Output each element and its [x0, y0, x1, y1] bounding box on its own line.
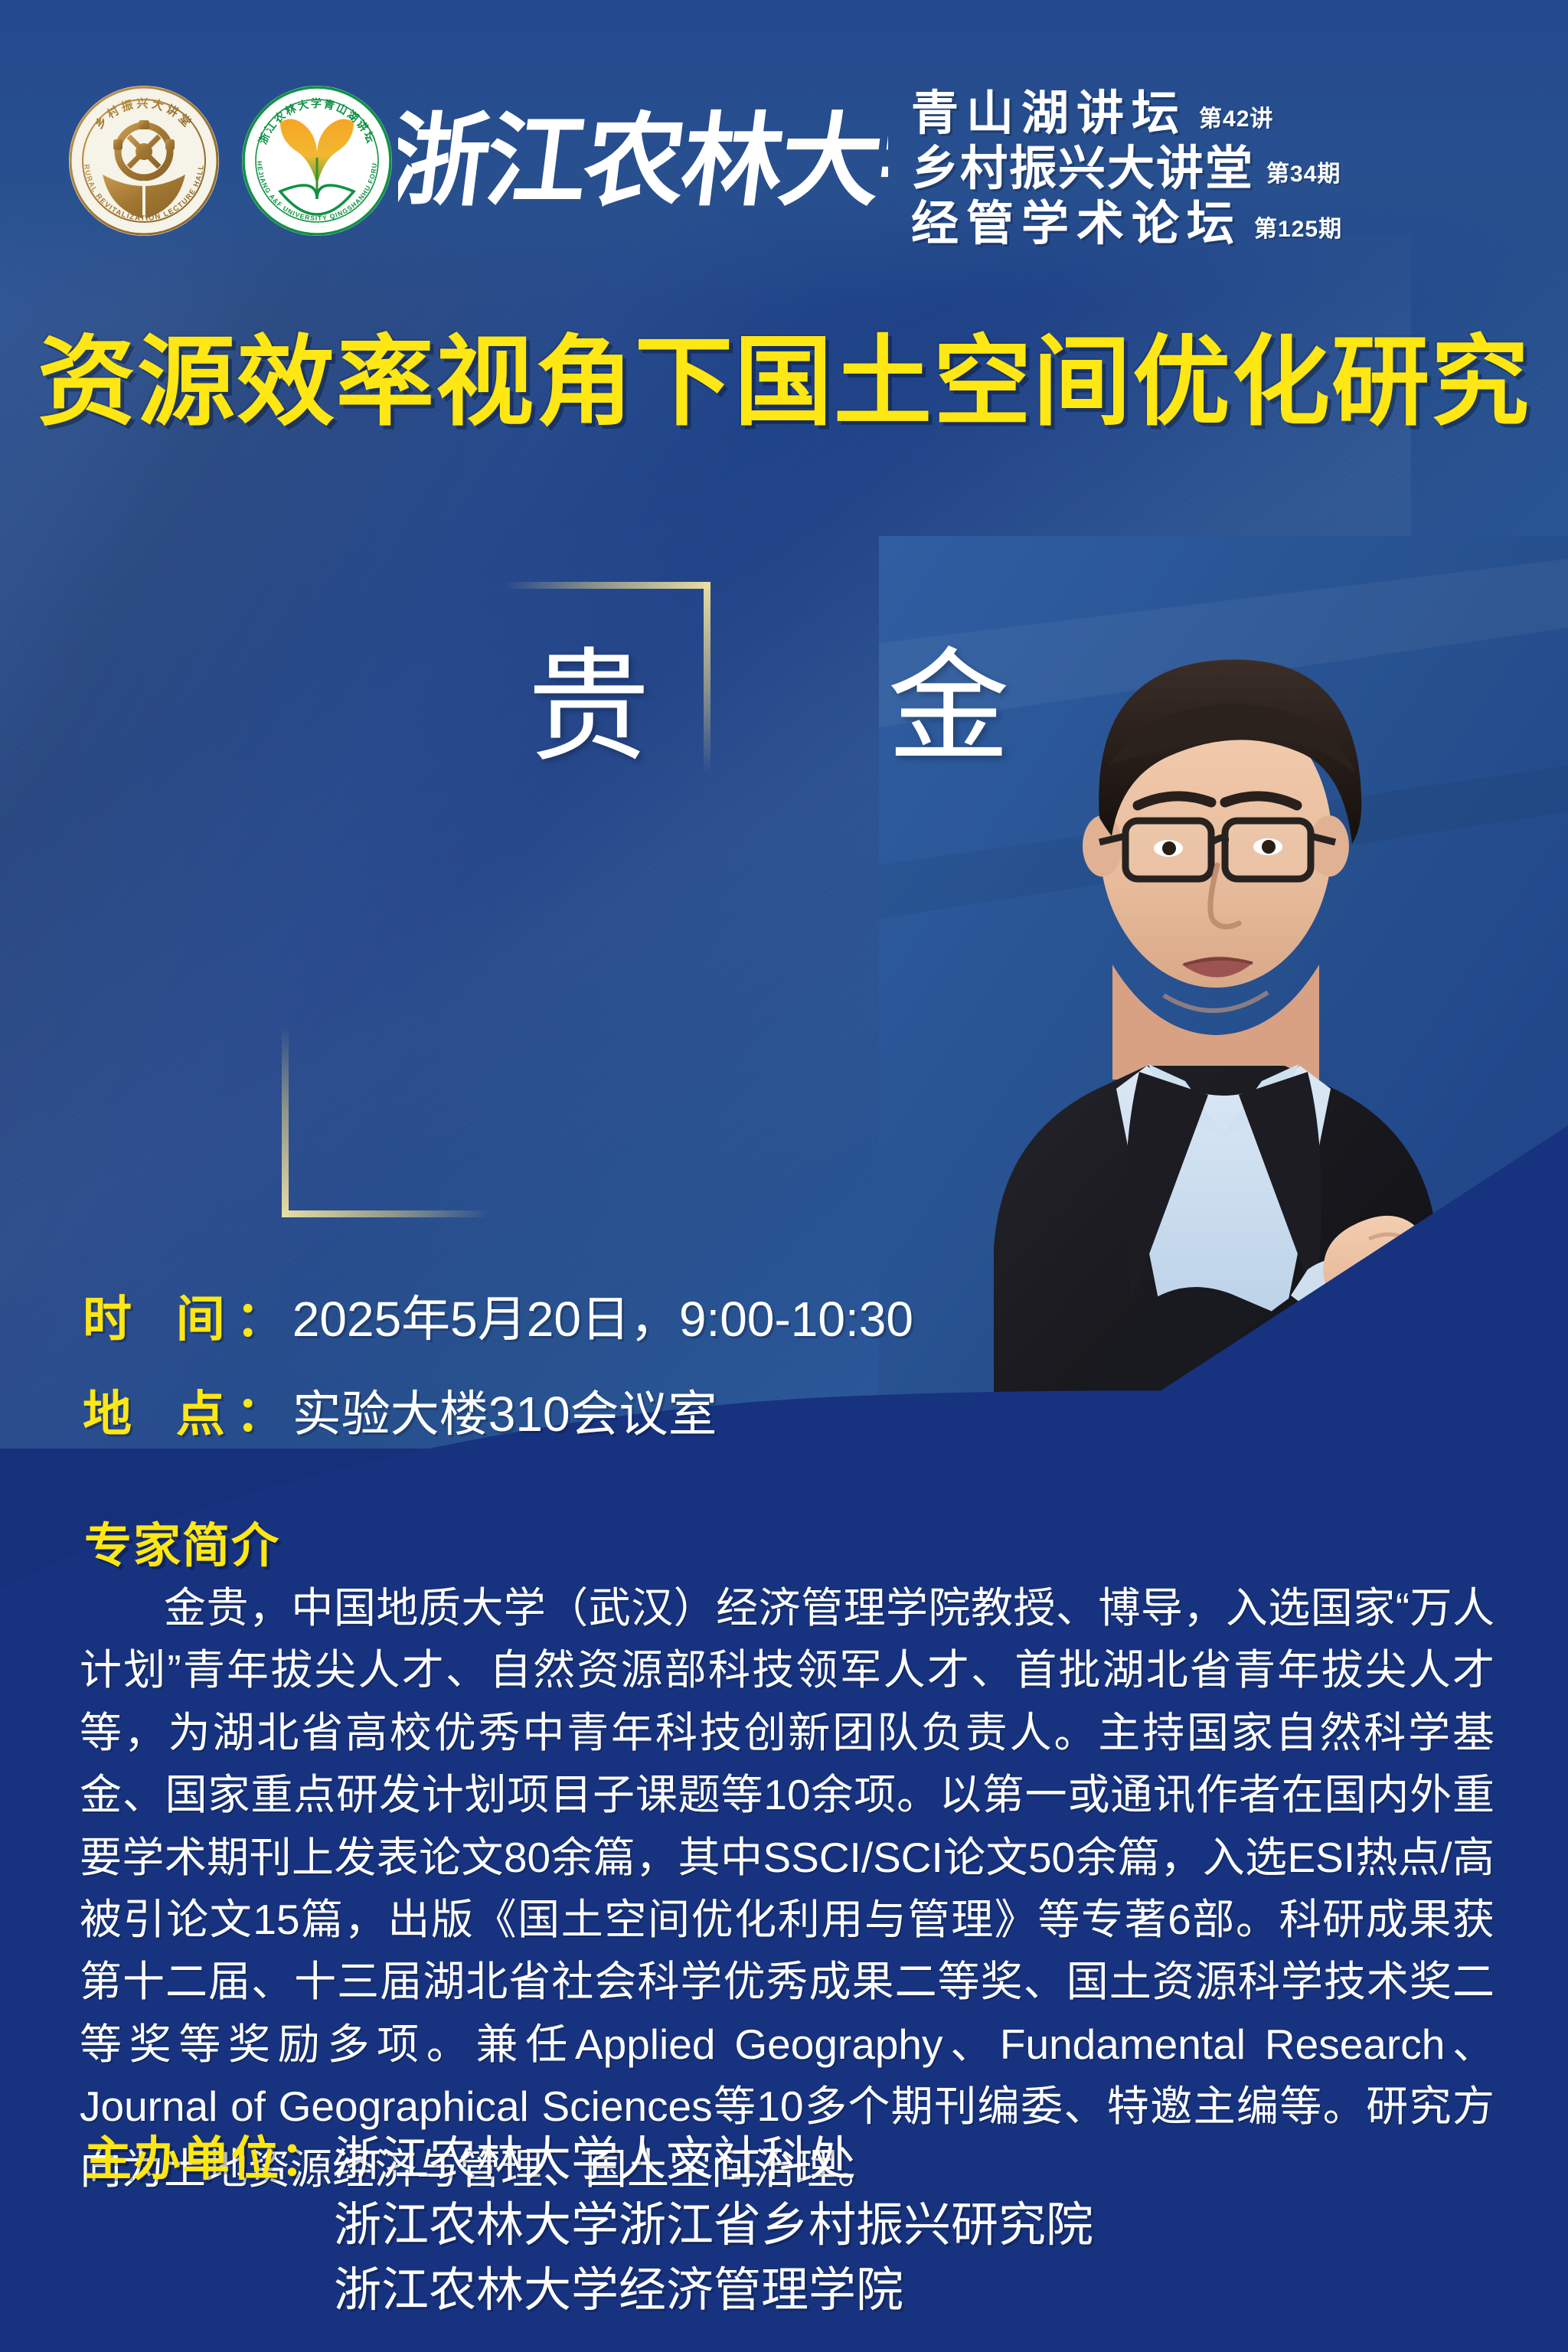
- series-number-econ-management-forum: 第125期: [1254, 210, 1342, 248]
- event-place-value: 实验大楼310会议室: [292, 1375, 717, 1445]
- logo-group: 乡村振兴大讲堂 RURAL REVITALIZATION LECTURE HAL…: [67, 84, 394, 237]
- lecture-title: 资源效率视角下国土空间优化研究: [0, 325, 1568, 440]
- event-time-row: 时 间 ： 2025年5月20日，9:00-10:30: [83, 1280, 913, 1351]
- place-colon-icon: ：: [236, 1375, 285, 1445]
- expert-bio-heading: 专家简介: [84, 1507, 280, 1576]
- event-time-label: 时 间: [83, 1280, 240, 1351]
- svg-text:浙江农林大学: 浙江农林大学: [398, 106, 888, 217]
- organizers-list: 浙江农林大学人文社科处 浙江农林大学浙江省乡村振兴研究院 浙江农林大学经济管理学…: [334, 2127, 1093, 2324]
- expert-bio-text: 金贵，中国地质大学（武汉）经济管理学院教授、博导，入选国家“万人计划”青年拔尖人…: [80, 1577, 1494, 2200]
- event-place-row: 地 点 ： 实验大楼310会议室: [83, 1375, 913, 1445]
- series-row: 乡村振兴大讲堂 第34期: [911, 145, 1342, 193]
- event-time-value: 2025年5月20日，9:00-10:30: [292, 1280, 913, 1351]
- zhejiang-af-university-qingshanhu-forum-logo-icon: 浙江农林大学青山湖讲坛 ZHEJIANG A&F UNIVERSITY QING…: [240, 84, 394, 237]
- event-place-label: 地 点: [83, 1375, 240, 1445]
- series-name-econ-management-forum: 经管学术论坛: [911, 201, 1242, 248]
- series-name-qingshanhu: 青山湖讲坛: [911, 90, 1187, 138]
- rural-revitalization-lecture-hall-logo-icon: 乡村振兴大讲堂 RURAL REVITALIZATION LECTURE HAL…: [67, 84, 220, 237]
- organizer-item: 浙江农林大学经济管理学院: [334, 2258, 1093, 2324]
- series-row: 青山湖讲坛 第42讲: [911, 90, 1342, 138]
- organizer-item: 浙江农林大学人文社科处: [334, 2127, 1093, 2193]
- series-list: 青山湖讲坛 第42讲 乡村振兴大讲堂 第34期 经管学术论坛 第125期: [911, 90, 1342, 248]
- university-name-calligraphy: 浙江农林大学: [398, 83, 888, 228]
- speaker-name-block: 金贵: [282, 582, 710, 1217]
- speaker-name: 金贵: [398, 642, 1118, 1217]
- series-row: 经管学术论坛 第125期: [911, 201, 1342, 248]
- series-number-qingshanhu: 第42讲: [1199, 100, 1273, 138]
- event-details: 时 间 ： 2025年5月20日，9:00-10:30 地 点 ： 实验大楼31…: [83, 1280, 913, 1445]
- poster-header: 乡村振兴大讲堂 RURAL REVITALIZATION LECTURE HAL…: [0, 54, 1568, 283]
- organizers-block: 主办单位： 浙江农林大学人文社科处 浙江农林大学浙江省乡村振兴研究院 浙江农林大…: [84, 2127, 1093, 2324]
- series-name-rural-revitalization: 乡村振兴大讲堂: [911, 145, 1254, 193]
- time-colon-icon: ：: [236, 1280, 285, 1351]
- organizers-label: 主办单位：: [84, 2127, 329, 2193]
- lecture-poster: 乡村振兴大讲堂 RURAL REVITALIZATION LECTURE HAL…: [0, 0, 1568, 2352]
- series-number-rural-revitalization: 第34期: [1266, 155, 1341, 193]
- organizer-item: 浙江农林大学浙江省乡村振兴研究院: [334, 2193, 1093, 2259]
